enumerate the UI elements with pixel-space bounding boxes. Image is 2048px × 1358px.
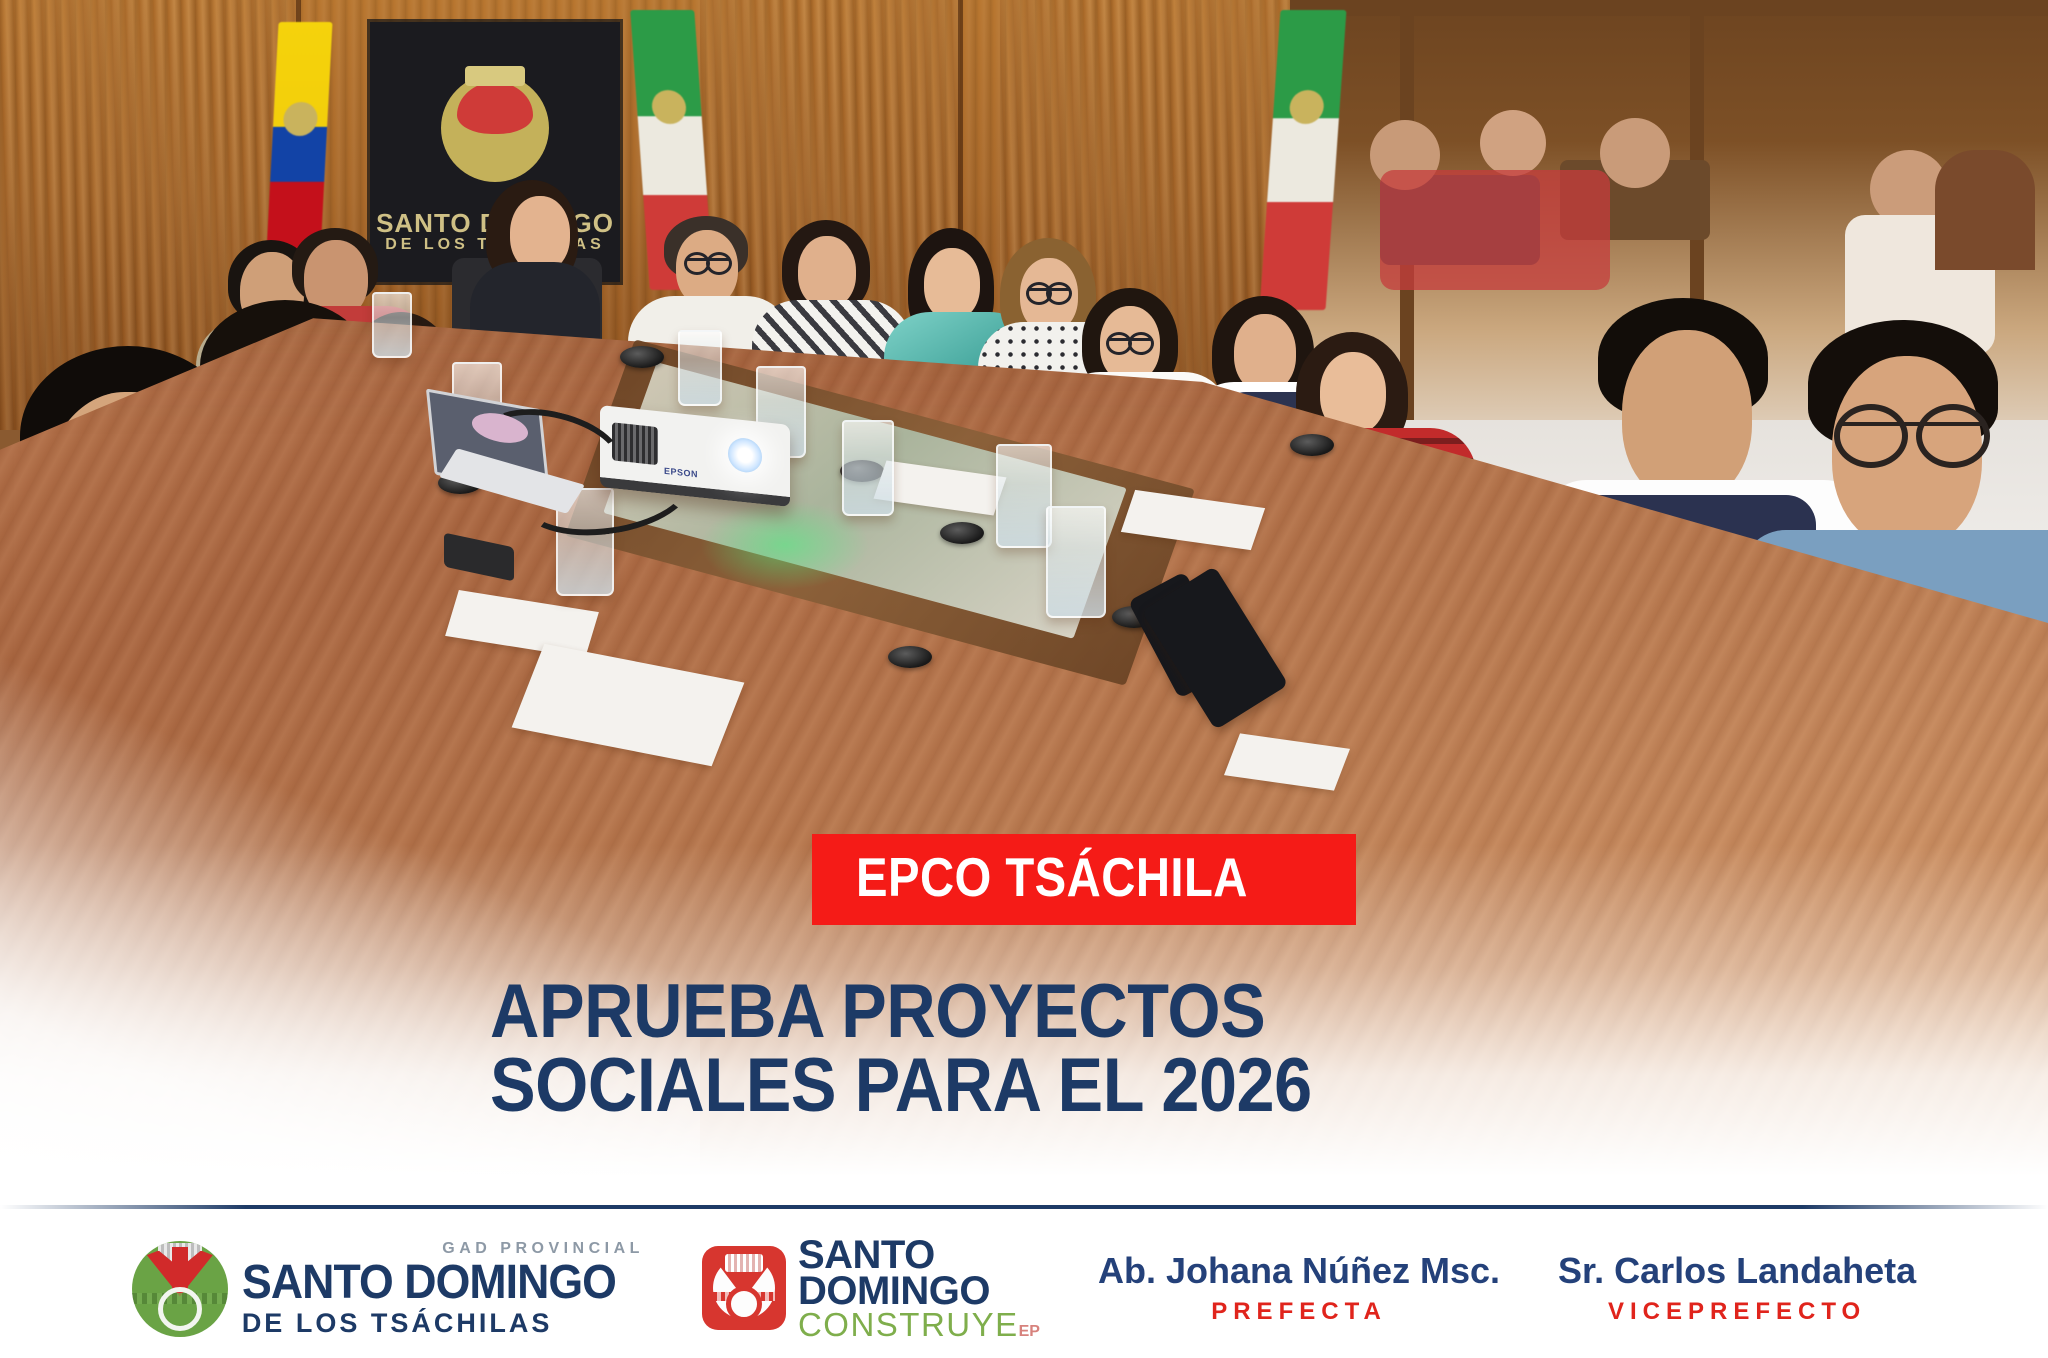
santo-domingo-construye-logo: SANTO DOMINGO CONSTRUYEEP bbox=[702, 1237, 1040, 1341]
table-mic-port-2 bbox=[620, 346, 664, 368]
epco-badge-label: EPCO TSÁCHILA bbox=[856, 850, 1248, 905]
gad-logo-eyebrow: GAD PROVINCIAL bbox=[242, 1241, 644, 1257]
construye-logo-line1: SANTO bbox=[798, 1237, 1040, 1274]
water-glass-1 bbox=[372, 292, 412, 358]
projector-lens-icon bbox=[728, 436, 762, 474]
backdrop-emblem-cap-icon bbox=[465, 66, 525, 86]
viceprefecto-name: Sr. Carlos Landaheta bbox=[1558, 1251, 1916, 1291]
headline: APRUEBA PROYECTOS SOCIALES PARA EL 2026 bbox=[490, 975, 1590, 1124]
gad-logo-name: SANTO DOMINGO bbox=[242, 1259, 616, 1307]
table-mic-port-4 bbox=[940, 522, 984, 544]
gad-logo-subtitle: DE LOS TSÁCHILAS bbox=[242, 1310, 644, 1337]
gad-seal-fan-center-icon bbox=[172, 1247, 188, 1291]
santo-domingo-emblem-icon bbox=[651, 90, 687, 124]
table-mic-port-7 bbox=[888, 646, 932, 668]
construye-logo-suffix: EP bbox=[1019, 1323, 1040, 1340]
official-viceprefecto: Sr. Carlos Landaheta VICEPREFECTO bbox=[1558, 1251, 1916, 1326]
person-far-5 bbox=[1935, 150, 2035, 270]
ecuador-coat-of-arms-icon bbox=[283, 102, 319, 136]
gad-provincial-logo: GAD PROVINCIAL SANTO DOMINGO DE LOS TSÁC… bbox=[132, 1241, 644, 1337]
construye-seal-comb-icon bbox=[725, 1254, 763, 1272]
backdrop-emblem-icon bbox=[441, 74, 549, 182]
epco-badge: EPCO TSÁCHILA bbox=[812, 834, 1356, 925]
water-glass-6 bbox=[996, 444, 1052, 548]
gad-seal-ring-icon bbox=[158, 1287, 202, 1331]
person-far-3 bbox=[1600, 118, 1670, 188]
promo-poster: SANTO DOMINGO DE LOS TSACHILAS bbox=[0, 0, 2048, 1358]
construye-logo-line3: CONSTRUYE bbox=[798, 1306, 1019, 1343]
construye-seal-ring-icon bbox=[726, 1286, 762, 1322]
official-prefecta: Ab. Johana Núñez Msc. PREFECTA bbox=[1098, 1251, 1500, 1326]
footer: GAD PROVINCIAL SANTO DOMINGO DE LOS TSÁC… bbox=[0, 1205, 2048, 1358]
construye-logo-line2: DOMINGO bbox=[798, 1273, 1040, 1310]
glass-header bbox=[1290, 0, 2048, 16]
table-mic-port-6 bbox=[1290, 434, 1334, 456]
footer-divider bbox=[0, 1205, 2048, 1209]
headline-line-1: APRUEBA PROYECTOS bbox=[490, 975, 1480, 1049]
person-far-2 bbox=[1480, 110, 1546, 176]
santo-domingo-emblem-icon-2 bbox=[1289, 90, 1325, 124]
headline-line-2: SOCIALES PARA EL 2026 bbox=[490, 1049, 1480, 1123]
water-glass-7 bbox=[1046, 506, 1106, 618]
viceprefecto-role: VICEPREFECTO bbox=[1558, 1299, 1916, 1326]
person-far-redshirt bbox=[1380, 170, 1610, 290]
water-glass-3 bbox=[678, 330, 722, 406]
prefecta-name: Ab. Johana Núñez Msc. bbox=[1098, 1251, 1500, 1291]
prefecta-role: PREFECTA bbox=[1098, 1299, 1500, 1326]
construye-seal-icon bbox=[702, 1246, 786, 1330]
water-glass-5 bbox=[842, 420, 894, 516]
gad-seal-icon bbox=[132, 1241, 228, 1337]
